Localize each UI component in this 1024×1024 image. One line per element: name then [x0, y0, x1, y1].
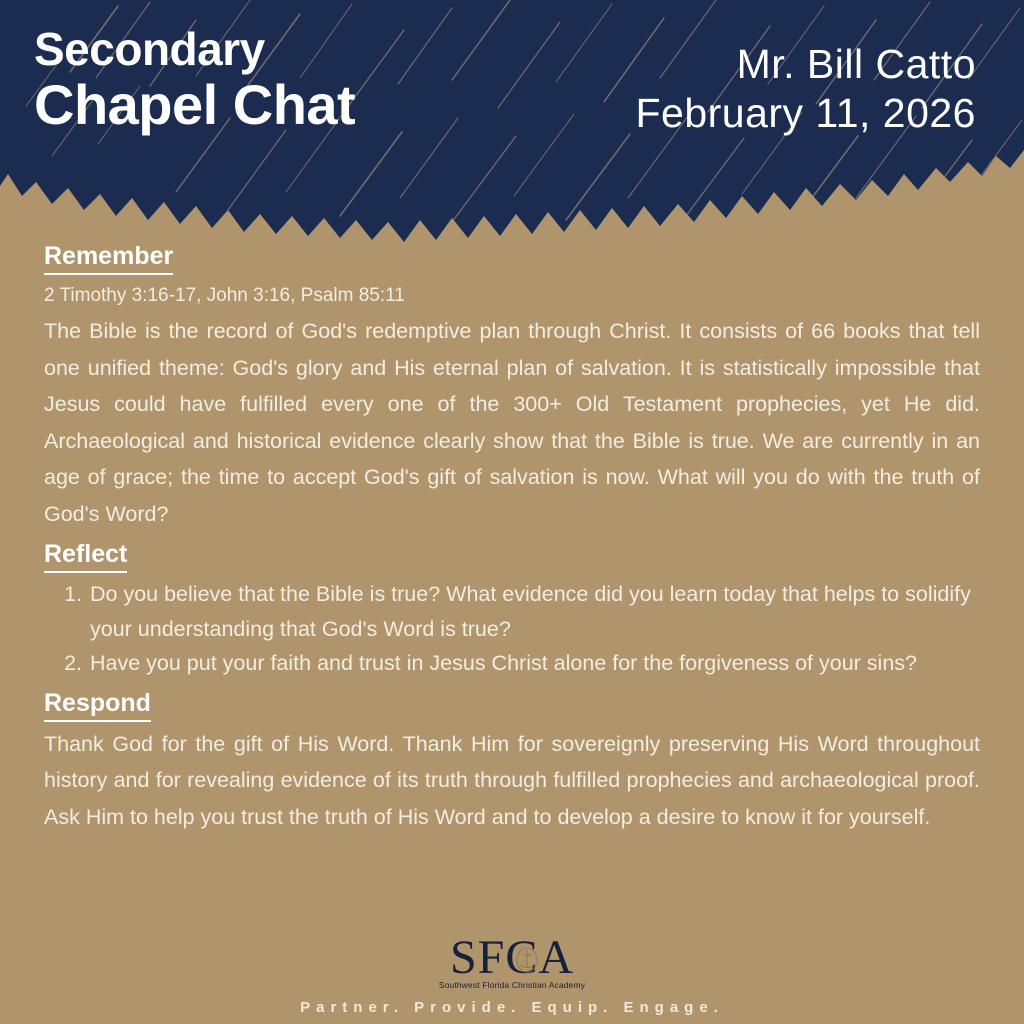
respond-section: Respond: [44, 687, 980, 724]
tagline: Partner. Provide. Equip. Engage.: [0, 999, 1024, 1016]
chapel-chat-content: Remember 2 Timothy 3:16-17, John 3:16, P…: [44, 240, 980, 835]
header-banner: Secondary Chapel Chat Mr. Bill Catto Feb…: [0, 0, 1024, 262]
title-line-chapel-chat: Chapel Chat: [34, 74, 355, 136]
list-item: Have you put your faith and trust in Jes…: [88, 646, 980, 681]
remember-body: The Bible is the record of God's redempt…: [44, 313, 980, 532]
respond-body: Thank God for the gift of His Word. Than…: [44, 726, 980, 836]
reflect-question-list: Do you believe that the Bible is true? W…: [44, 577, 980, 681]
remember-section: Remember: [44, 240, 980, 277]
reflect-section: Reflect: [44, 538, 980, 575]
remember-heading: Remember: [44, 240, 173, 275]
title-line-secondary: Secondary: [34, 22, 355, 76]
page-title: Secondary Chapel Chat: [34, 22, 355, 136]
speaker-info: Mr. Bill Catto February 11, 2026: [635, 40, 976, 138]
respond-heading: Respond: [44, 687, 151, 722]
footer: SFCA Southwest Florida Christian Academy…: [0, 933, 1024, 1016]
sfca-logo-mark: SFCA Southwest Florida Christian Academy: [427, 933, 597, 995]
reflect-heading: Reflect: [44, 538, 127, 573]
sfca-logo: SFCA Southwest Florida Christian Academy: [427, 933, 597, 995]
chapel-date: February 11, 2026: [635, 88, 976, 138]
logo-subtitle-text: Southwest Florida Christian Academy: [439, 980, 586, 990]
logo-acronym-text: SFCA: [450, 933, 574, 984]
list-item: Do you believe that the Bible is true? W…: [88, 577, 980, 646]
speaker-name: Mr. Bill Catto: [635, 40, 976, 88]
scripture-references: 2 Timothy 3:16-17, John 3:16, Psalm 85:1…: [44, 281, 980, 311]
